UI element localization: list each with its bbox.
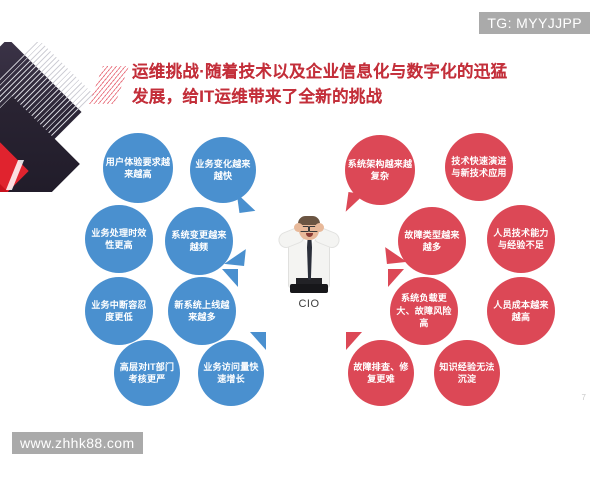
bubble-tail-icon <box>388 269 404 287</box>
bubble-business-change[interactable]: 业务变化越来越快 <box>190 137 256 203</box>
bubble-tail-icon <box>250 332 266 350</box>
bubble-tail-icon <box>222 269 238 287</box>
bubble-label: 业务中断容忍度更低 <box>87 299 151 324</box>
bubble-system-load-risk[interactable]: 系统负载更大、故障风险高 <box>390 277 458 345</box>
bubble-label: 故障类型越来越多 <box>400 229 464 254</box>
bubble-it-dept-assessment[interactable]: 高层对IT部门考核更严 <box>114 340 180 406</box>
bubble-tail-icon <box>385 245 407 264</box>
bubble-access-volume-growth[interactable]: 业务访问量快速增长 <box>198 340 264 406</box>
bubble-label: 技术快速演进与新技术应用 <box>447 155 511 180</box>
bubble-tail-icon <box>224 247 246 266</box>
bubble-label: 高层对IT部门考核更严 <box>116 361 178 386</box>
bubble-architecture-complex[interactable]: 系统架构越来越复杂 <box>345 135 415 205</box>
bubble-troubleshoot-hard[interactable]: 故障排查、修复更难 <box>348 340 414 406</box>
bubble-tail-icon <box>237 191 256 213</box>
bubble-knowledge-not-retained[interactable]: 知识经验无法沉淀 <box>434 340 500 406</box>
title-line-2: 发展，给IT运维带来了全新的挑战 <box>132 85 572 110</box>
page-number: 7 <box>582 393 586 402</box>
watermark-telegram: TG: MYYJJPP <box>479 12 590 34</box>
watermark-website: www.zhhk88.com <box>12 432 143 454</box>
cio-figure: CIO <box>278 208 340 304</box>
cio-left-hand <box>294 223 303 232</box>
bubble-staff-skill-gap[interactable]: 人员技术能力与经验不足 <box>487 205 555 273</box>
bubble-label: 系统变更越来越频 <box>167 229 231 254</box>
bubble-label: 业务处理时效性更高 <box>87 227 151 252</box>
bubble-staff-cost[interactable]: 人员成本越来越高 <box>487 277 555 345</box>
bubble-label: 系统负载更大、故障风险高 <box>392 292 456 330</box>
bubble-tech-fast-evolution[interactable]: 技术快速演进与新技术应用 <box>445 133 513 201</box>
bubble-label: 故障排查、修复更难 <box>350 361 412 386</box>
title-line-1: 运维挑战·随着技术以及企业信息化与数字化的迅猛 <box>132 60 572 85</box>
cio-pedestal <box>290 284 328 293</box>
bubble-tail-icon <box>346 332 362 350</box>
page-title: 运维挑战·随着技术以及企业信息化与数字化的迅猛 发展，给IT运维带来了全新的挑战 <box>132 60 572 110</box>
bubble-system-change[interactable]: 系统变更越来越频 <box>165 207 233 275</box>
bubble-label: 知识经验无法沉淀 <box>436 361 498 386</box>
bubble-new-systems-online[interactable]: 新系统上线越来越多 <box>168 277 236 345</box>
slide-canvas: 运维挑战·随着技术以及企业信息化与数字化的迅猛 发展，给IT运维带来了全新的挑战… <box>0 0 600 480</box>
bubble-label: 新系统上线越来越多 <box>170 299 234 324</box>
bubble-business-interrupt[interactable]: 业务中断容忍度更低 <box>85 277 153 345</box>
bubble-fault-types[interactable]: 故障类型越来越多 <box>398 207 466 275</box>
bubble-label: 系统架构越来越复杂 <box>347 158 413 183</box>
cio-right-hand <box>315 223 324 232</box>
bubble-user-experience[interactable]: 用户体验要求越来越高 <box>103 133 173 203</box>
bubble-label: 用户体验要求越来越高 <box>105 156 171 181</box>
bubble-label: 人员成本越来越高 <box>489 299 553 324</box>
bubble-label: 业务访问量快速增长 <box>200 361 262 386</box>
bubble-tail-icon <box>346 192 365 214</box>
bubble-processing-timeliness[interactable]: 业务处理时效性更高 <box>85 205 153 273</box>
cio-label: CIO <box>278 298 340 310</box>
bubble-label: 业务变化越来越快 <box>192 158 254 183</box>
corner-decoration <box>0 42 114 192</box>
bubble-label: 人员技术能力与经验不足 <box>489 227 553 252</box>
